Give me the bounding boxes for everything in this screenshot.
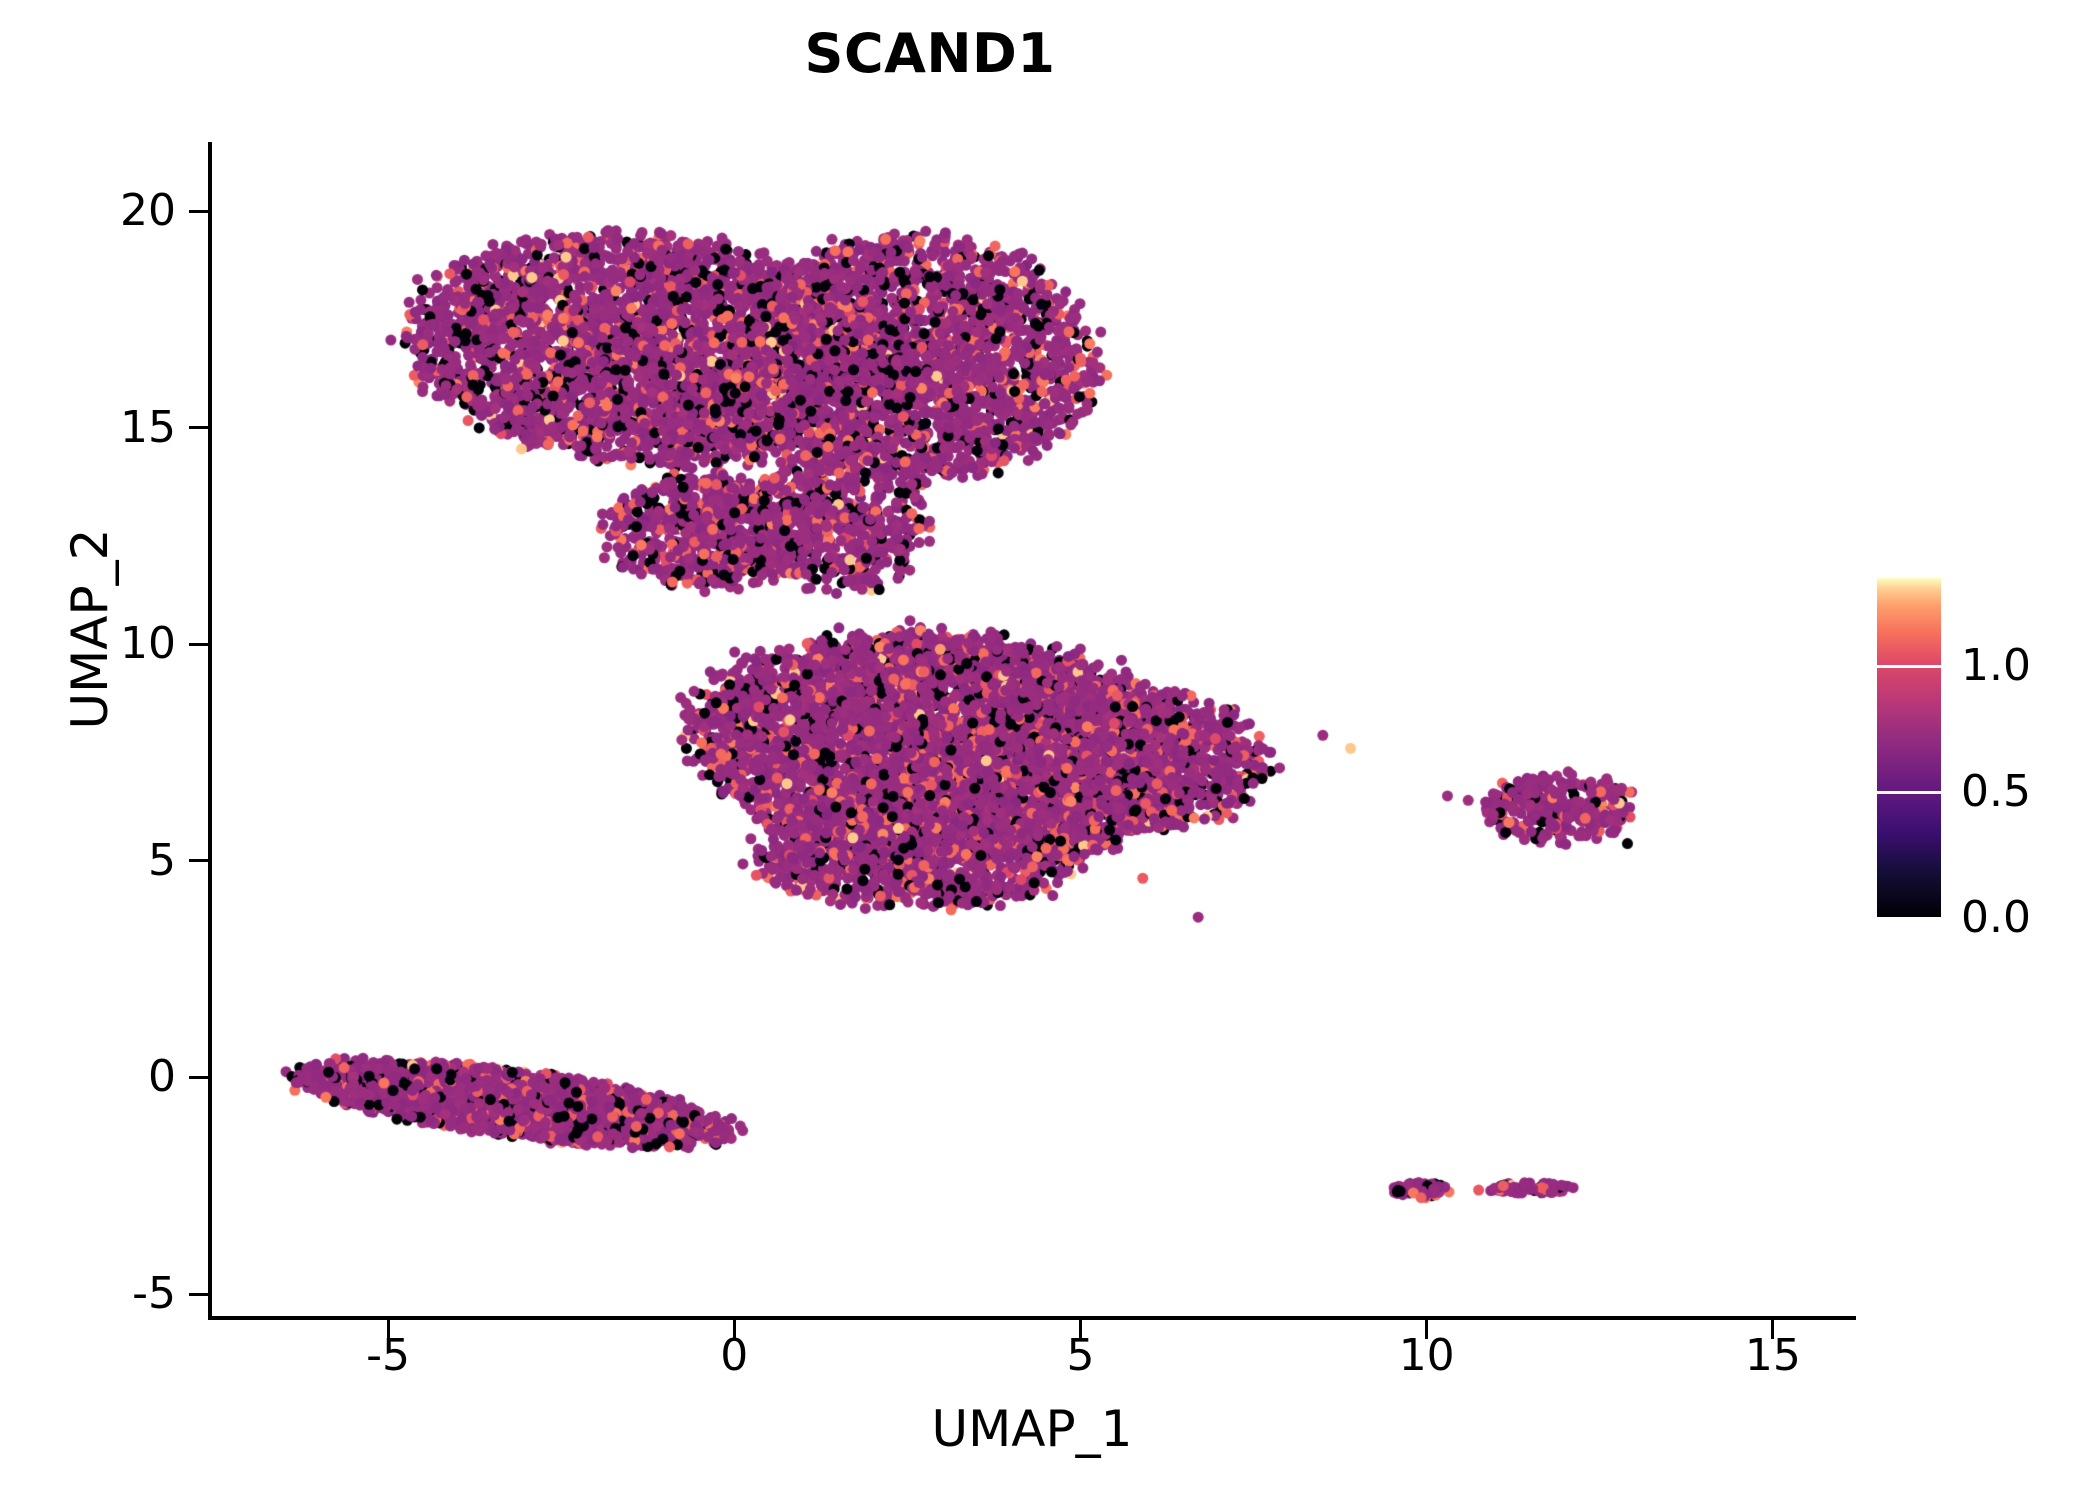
- y-tick-5: [189, 859, 208, 862]
- x-ticklabel-10: 10: [1327, 1334, 1527, 1378]
- y-tick-10: [189, 643, 208, 646]
- x-axis-spine: [208, 1316, 1856, 1320]
- x-ticklabel-0: 0: [634, 1334, 834, 1378]
- colorbar-tick-1.0: [1877, 665, 1941, 668]
- page-title: SCAND1: [0, 22, 1860, 85]
- y-tick-15: [189, 426, 208, 429]
- y-ticklabel-20: 20: [0, 189, 176, 233]
- y-tick-0: [189, 1076, 208, 1079]
- y-ticklabel--5: -5: [0, 1272, 176, 1316]
- scatter-canvas: [208, 142, 1856, 1320]
- colorbar-ticklabel-0.0: 0.0: [1961, 896, 2100, 940]
- y-axis-spine: [208, 142, 212, 1320]
- x-ticklabel--5: -5: [288, 1334, 488, 1378]
- y-axis-label: UMAP_2: [61, 229, 119, 1029]
- colorbar-tick-0.0: [1877, 917, 1941, 920]
- x-axis-label: UMAP_1: [208, 1400, 1856, 1458]
- colorbar-ticklabel-1.0: 1.0: [1961, 644, 2100, 688]
- colorbar-tick-0.5: [1877, 791, 1941, 794]
- y-tick--5: [189, 1293, 208, 1296]
- colorbar-gradient: [1877, 578, 1941, 918]
- x-ticklabel-15: 15: [1673, 1334, 1873, 1378]
- y-ticklabel-0: 0: [0, 1055, 176, 1099]
- umap-feature-plot-figure: SCAND1 -505101520 -5051015 UMAP_1 UMAP_2…: [0, 0, 2100, 1500]
- plot-axes: -505101520 -5051015: [208, 142, 1856, 1320]
- y-tick-20: [189, 210, 208, 213]
- colorbar-ticklabel-0.5: 0.5: [1961, 770, 2100, 814]
- colorbar: 0.00.51.0: [1877, 578, 1941, 918]
- x-ticklabel-5: 5: [980, 1334, 1180, 1378]
